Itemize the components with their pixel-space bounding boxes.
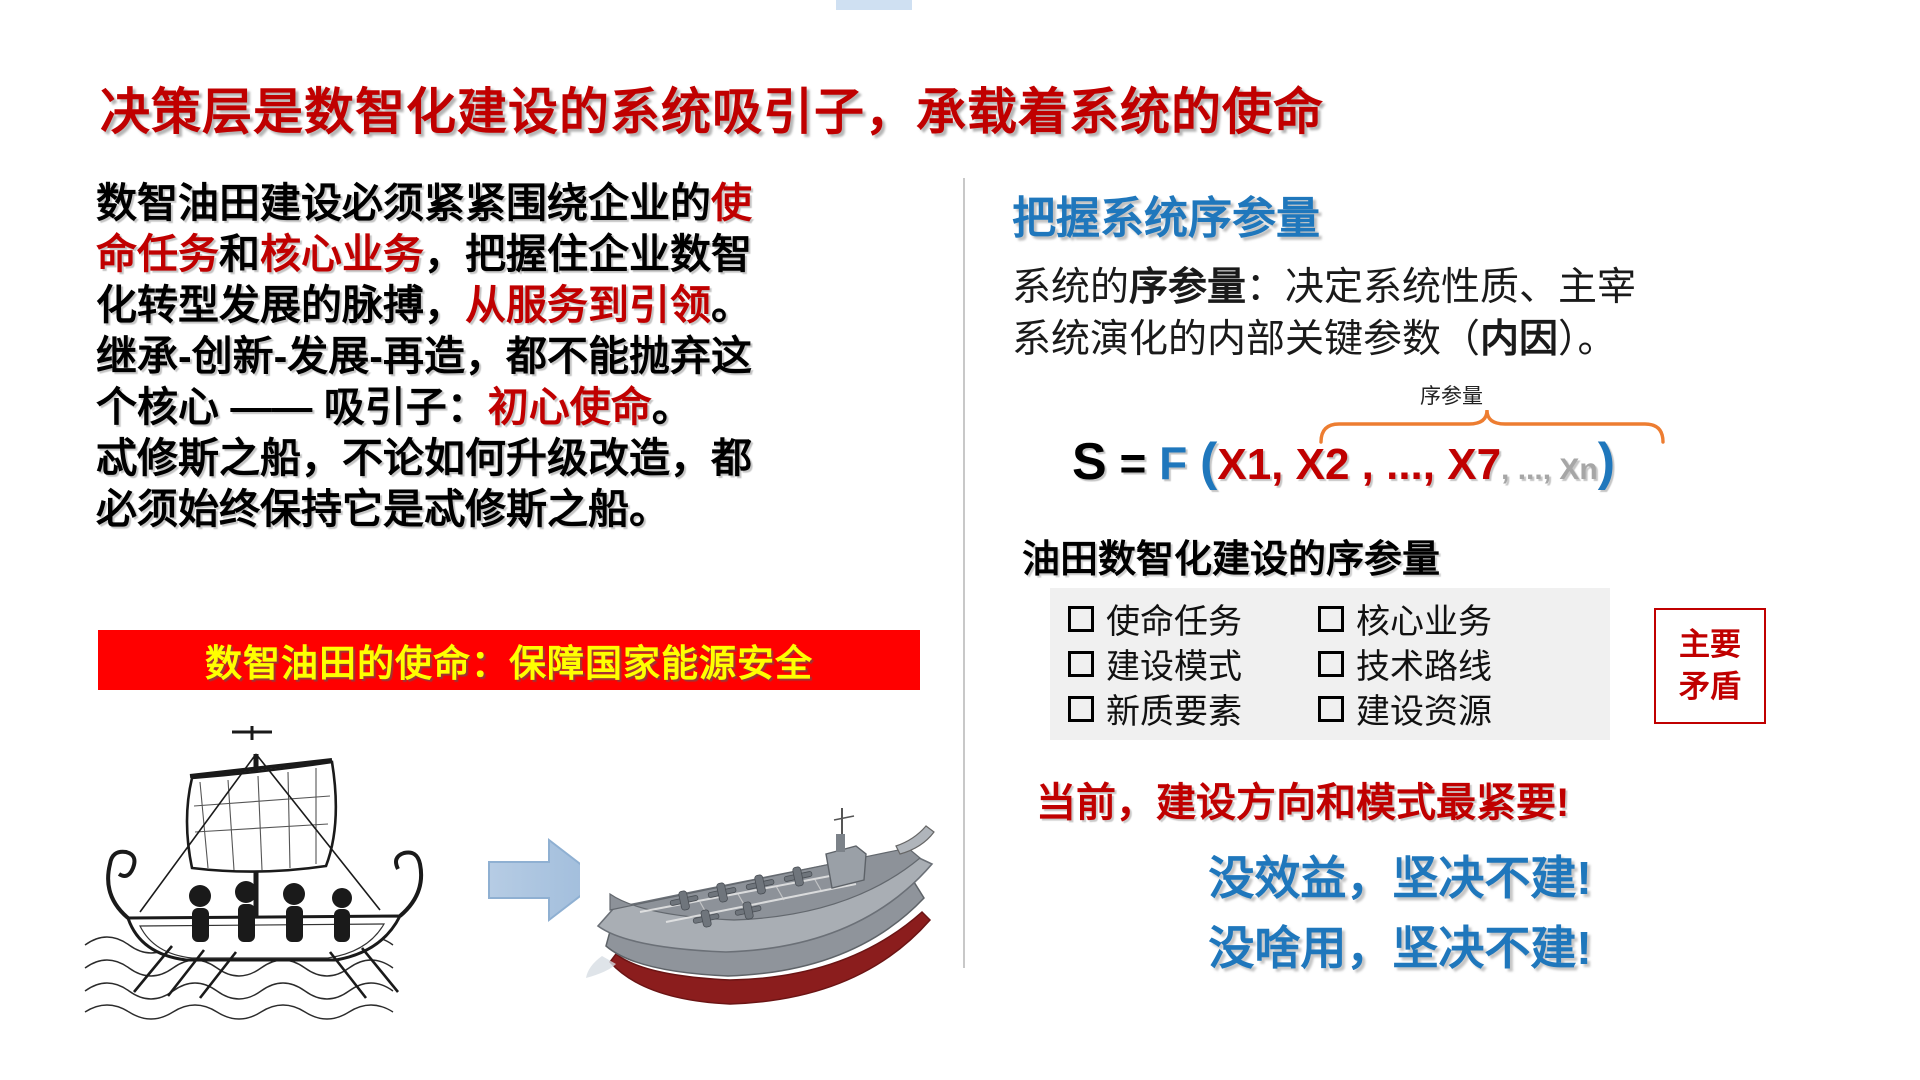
- def-line2-a: 系统演化的内部关键参数（: [1012, 318, 1480, 361]
- para-line1-b: 使: [711, 180, 752, 226]
- para-line6: 忒修斯之船，不论如何升级改造，都: [96, 435, 752, 481]
- urgent-note: 当前，建设方向和模式最紧要!: [1036, 770, 1569, 828]
- def-line2-c: ）。: [1558, 318, 1617, 361]
- formula-s: S: [1072, 433, 1107, 491]
- def-line1-c: ：决定系统性质、主宰: [1246, 266, 1636, 309]
- formula-zone: 序参量 S = F (X1, X2 , ..., X7, ..., Xn): [1012, 380, 1892, 490]
- mission-banner-text: 数智油田的使命：保障国家能源安全: [205, 633, 813, 687]
- parameter-label: 核心业务: [1356, 594, 1492, 643]
- page-title: 决策层是数智化建设的系统吸引子，承载着系统的使命: [100, 72, 1820, 144]
- parameters-box: 使命任务 核心业务 建设模式 技术路线 新质要素 建设资源: [1050, 588, 1610, 740]
- para-line2-b: 和: [219, 231, 260, 277]
- column-divider: [963, 178, 965, 968]
- para-line2-c: 核心业务: [260, 231, 424, 277]
- para-line3-b: 从服务到引领: [465, 282, 711, 328]
- formula-open-paren: (: [1200, 433, 1217, 491]
- para-line2-d: ，把握住企业数智: [424, 231, 752, 277]
- para-line7: 必须始终保持它是忒修斯之船。: [96, 486, 670, 532]
- slogan-no-use: 没啥用，坚决不建!: [1050, 912, 1750, 978]
- parameter-label: 技术路线: [1356, 639, 1492, 688]
- para-line5-a: 个核心 —— 吸引子：: [96, 384, 488, 430]
- def-line1-a: 系统的: [1012, 266, 1129, 309]
- mission-banner: 数智油田的使命：保障国家能源安全: [98, 630, 920, 690]
- checkbox-icon[interactable]: [1068, 696, 1094, 722]
- formula-vars-highlighted: X1, X2 , ..., X7: [1217, 440, 1501, 489]
- parameter-label: 建设模式: [1106, 639, 1242, 688]
- parameter-label: 使命任务: [1106, 594, 1242, 643]
- checkbox-icon[interactable]: [1318, 651, 1344, 677]
- para-line5-b: 初心使命: [488, 384, 652, 430]
- checkbox-icon[interactable]: [1068, 606, 1094, 632]
- parameter-item[interactable]: 建设资源: [1318, 686, 1568, 731]
- contradiction-line2: 矛盾: [1679, 666, 1741, 708]
- parameters-grid: 使命任务 核心业务 建设模式 技术路线 新质要素 建设资源: [1068, 596, 1608, 731]
- formula-close-paren: ): [1598, 433, 1615, 491]
- parameter-label: 新质要素: [1106, 684, 1242, 733]
- ancient-galley-engraving-icon: [80, 720, 470, 1025]
- slide-canvas: 决策层是数智化建设的系统吸引子，承载着系统的使命 数智油田建设必须紧紧围绕企业的…: [0, 0, 1920, 1080]
- para-line5-c: 。: [652, 384, 693, 430]
- para-line3-c: 。: [711, 282, 752, 328]
- slogan-no-benefit: 没效益，坚决不建!: [1050, 842, 1750, 908]
- para-line1-a: 数智油田建设必须紧紧围绕企业的: [96, 180, 711, 226]
- parameter-item[interactable]: 核心业务: [1318, 596, 1568, 641]
- order-parameter-definition: 系统的序参量：决定系统性质、主宰 系统演化的内部关键参数（内因）。: [1012, 262, 1892, 366]
- formula-vars-dim: , ..., Xn: [1501, 453, 1598, 486]
- def-line1-b: 序参量: [1129, 266, 1246, 309]
- contradiction-line1: 主要: [1679, 624, 1741, 666]
- main-contradiction-box: 主要 矛盾: [1654, 608, 1766, 724]
- para-line3-a: 化转型发展的脉搏，: [96, 282, 465, 328]
- parameter-item[interactable]: 使命任务: [1068, 596, 1318, 641]
- order-parameter-formula: S = F (X1, X2 , ..., X7, ..., Xn): [1072, 432, 1615, 492]
- def-line2-b: 内因: [1480, 318, 1558, 361]
- parameter-item[interactable]: 建设模式: [1068, 641, 1318, 686]
- formula-f: F: [1159, 437, 1187, 489]
- artwork-row: [80, 710, 940, 1060]
- para-line2-a: 命任务: [96, 231, 219, 277]
- checkbox-icon[interactable]: [1318, 696, 1344, 722]
- modern-aircraft-carrier-icon: [580, 750, 960, 1030]
- checkbox-icon[interactable]: [1068, 651, 1094, 677]
- parameters-sub-heading: 油田数智化建设的序参量: [1022, 528, 1440, 583]
- right-panel-heading: 把握系统序参量: [1012, 182, 1320, 246]
- para-line4: 继承-创新-发展-再造，都不能抛弃这: [96, 333, 752, 379]
- parameter-item[interactable]: 新质要素: [1068, 686, 1318, 731]
- checkbox-icon[interactable]: [1318, 606, 1344, 632]
- formula-equals: =: [1119, 437, 1146, 489]
- top-sliver-decoration: [836, 0, 912, 10]
- parameter-label: 建设资源: [1356, 684, 1492, 733]
- parameter-item[interactable]: 技术路线: [1318, 641, 1568, 686]
- left-paragraph: 数智油田建设必须紧紧围绕企业的使 命任务和核心业务，把握住企业数智 化转型发展的…: [96, 178, 928, 535]
- brace-label: 序参量: [1420, 380, 1483, 410]
